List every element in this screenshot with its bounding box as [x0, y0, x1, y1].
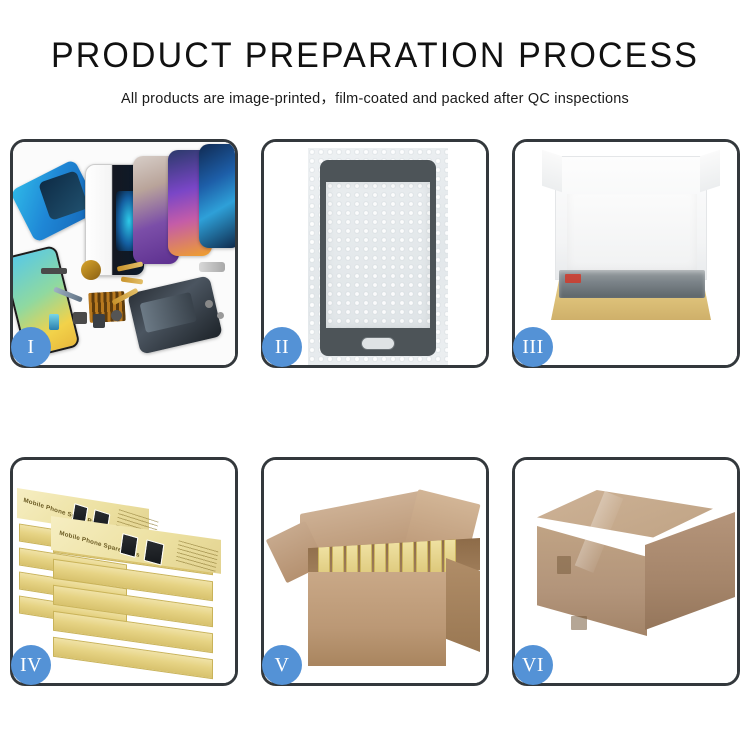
stacked-boxes-scene: Mobile Phone Spare Parts: [13, 460, 235, 683]
step-4-image: Mobile Phone Spare Parts: [13, 460, 235, 683]
foam-padding: [567, 194, 697, 276]
process-step-1[interactable]: I: [10, 139, 238, 368]
gold-coil: [81, 260, 101, 280]
page-title: PRODUCT PREPARATION PROCESS: [11, 36, 739, 76]
step-5-image: [264, 460, 486, 683]
inner-box-9: [430, 539, 442, 574]
step-1-image: [13, 142, 235, 365]
vibration-motor: [93, 314, 105, 328]
carton-label-upper: [557, 556, 571, 574]
battery-cell: [49, 314, 59, 330]
box-thumb-right-2: [144, 539, 165, 565]
home-button: [361, 337, 395, 350]
screw-1: [205, 300, 213, 308]
process-step-grid: I II: [10, 139, 740, 684]
inner-box-8: [416, 540, 428, 576]
page-subtitle: All products are image-printed，film-coat…: [0, 87, 750, 108]
step-6-badge: VI: [513, 645, 553, 685]
kraft-inner-box-scene: [515, 142, 737, 365]
box-thumb-right-1: [120, 533, 139, 558]
phone-parts-scene: [13, 142, 235, 365]
flex-cable-2: [121, 276, 143, 284]
camera-module: [73, 312, 87, 324]
carton-label-lower: [571, 616, 587, 630]
speaker-module: [41, 268, 67, 274]
carton-front-panel: [308, 572, 446, 666]
box-stack: Mobile Phone Spare Parts: [17, 482, 235, 666]
step-3-badge: III: [513, 327, 553, 367]
wrapped-phone-screen: [320, 160, 436, 356]
open-carton-scene: [264, 460, 486, 683]
process-step-4[interactable]: Mobile Phone Spare Parts: [10, 457, 238, 686]
tweezers: [199, 262, 225, 272]
step-3-image: [515, 142, 737, 365]
process-step-2[interactable]: II: [261, 139, 489, 368]
packed-screen: [559, 270, 705, 298]
phone-back-board: [127, 275, 223, 354]
step-6-image: [515, 460, 737, 683]
carton-side-panel: [446, 558, 480, 652]
process-step-5[interactable]: V: [261, 457, 489, 686]
button-part: [111, 310, 122, 321]
step-2-badge: II: [262, 327, 302, 367]
product-preparation-infographic: PRODUCT PREPARATION PROCESS All products…: [0, 0, 750, 750]
header: PRODUCT PREPARATION PROCESS All products…: [0, 0, 750, 108]
step-1-badge: I: [11, 327, 51, 367]
step-4-badge: IV: [11, 645, 51, 685]
process-step-3[interactable]: III: [512, 139, 740, 368]
process-step-6[interactable]: VI: [512, 457, 740, 686]
bubble-wrap-scene: [264, 142, 486, 365]
step-5-badge: V: [262, 645, 302, 685]
step-2-image: [264, 142, 486, 365]
phone-blue-streak: [199, 144, 235, 248]
screw-2: [217, 312, 224, 319]
sealed-carton-scene: [515, 460, 737, 683]
box-spec-right: [176, 540, 219, 572]
